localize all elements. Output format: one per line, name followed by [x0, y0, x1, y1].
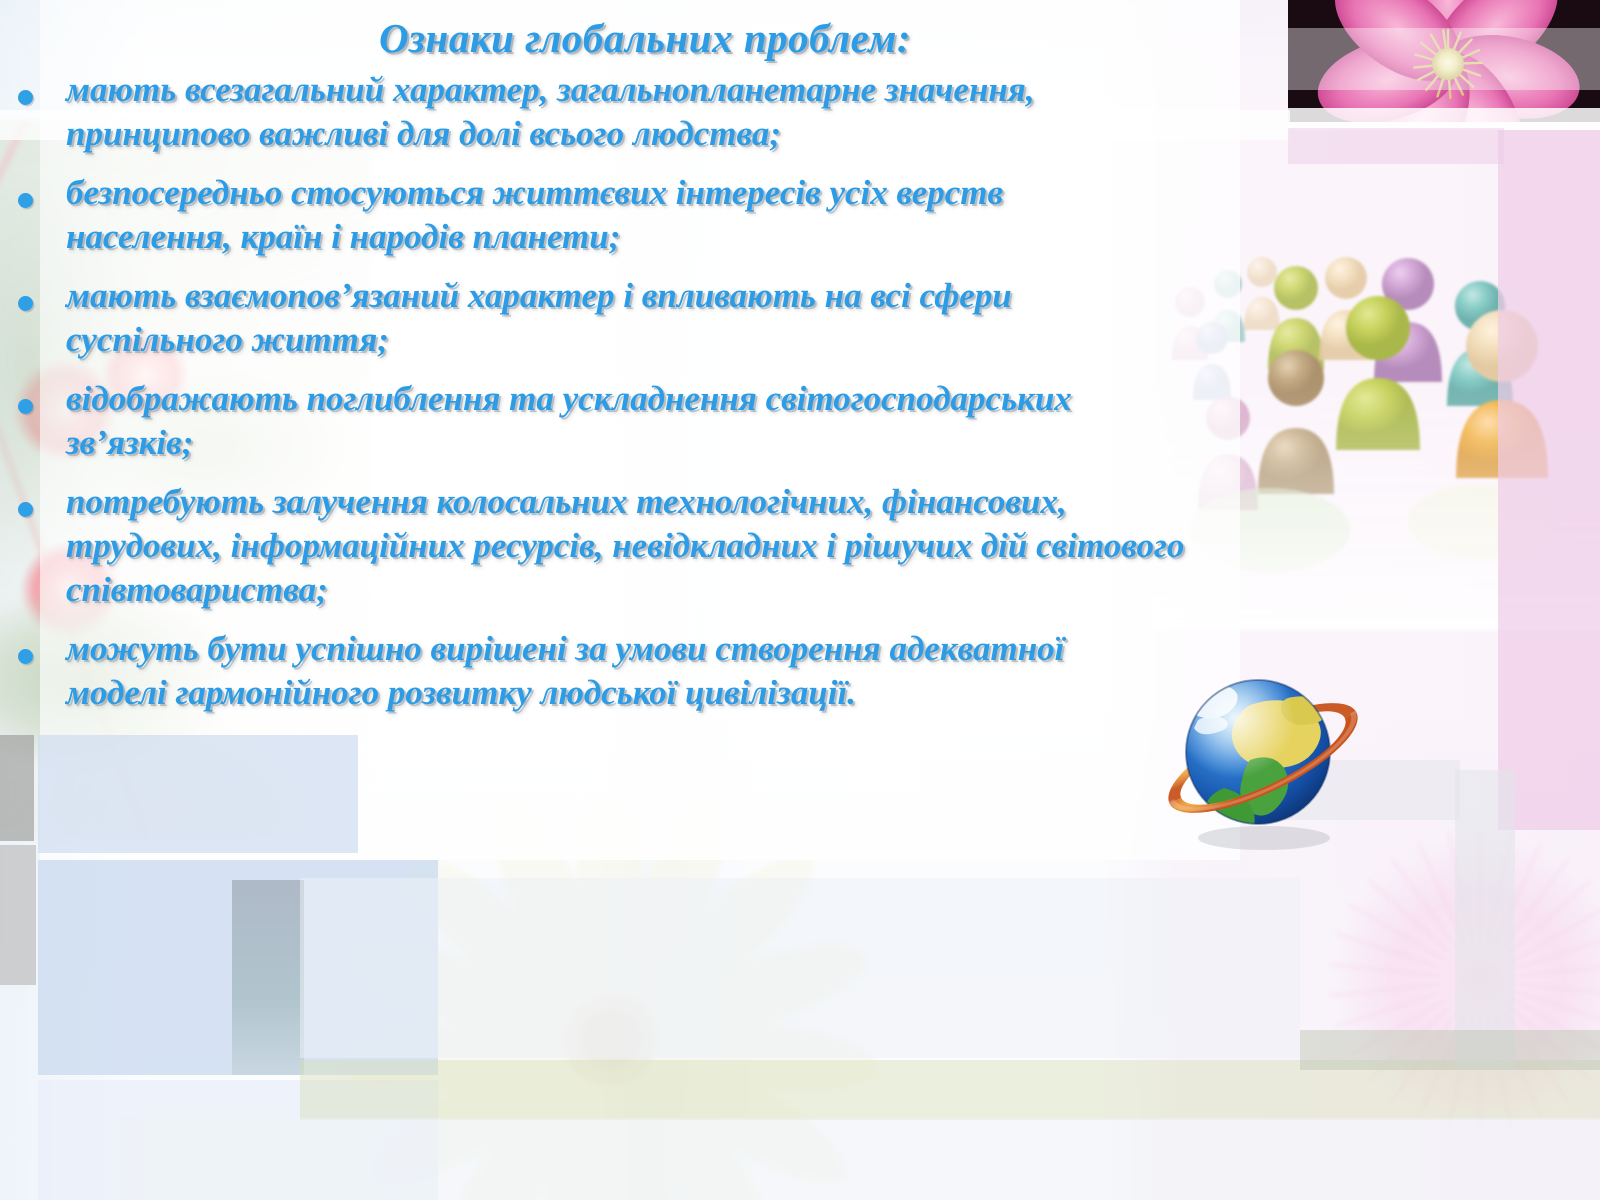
- list-item-label: безпосередньо стосуються життєвих інтере…: [66, 171, 1166, 260]
- list-item-label: мають взаємопов’язаний характер і вплива…: [66, 274, 1151, 363]
- slide-content: Ознаки глобальних проблем: мають всезага…: [0, 0, 1600, 1200]
- presentation-slide: Ознаки глобальних проблем: мають всезага…: [0, 0, 1600, 1200]
- list-item: відображають поглиблення та ускладнення …: [0, 377, 1270, 466]
- bullet-marker-icon: [18, 193, 33, 208]
- bullet-marker-icon: [18, 502, 33, 517]
- list-item: безпосередньо стосуються життєвих інтере…: [0, 171, 1270, 260]
- list-item: потребують залучення колосальних техноло…: [0, 480, 1270, 613]
- bullet-marker-icon: [18, 296, 33, 311]
- list-item: можуть бути успішно вирішені за умови ст…: [0, 627, 1270, 716]
- list-item-label: потребують залучення колосальних техноло…: [66, 480, 1201, 613]
- bullet-marker-icon: [18, 649, 33, 664]
- list-item: мають всезагальний характер, загальнопла…: [0, 68, 1270, 157]
- list-item-label: мають всезагальний характер, загальнопла…: [66, 68, 1201, 157]
- bullet-marker-icon: [18, 90, 33, 105]
- list-item: мають взаємопов’язаний характер і вплива…: [0, 274, 1270, 363]
- bullet-list: мають всезагальний характер, загальнопла…: [0, 68, 1270, 730]
- bullet-marker-icon: [18, 399, 33, 414]
- list-item-label: можуть бути успішно вирішені за умови ст…: [66, 627, 1116, 716]
- list-item-label: відображають поглиблення та ускладнення …: [66, 377, 1116, 466]
- page-title: Ознаки глобальних проблем:: [0, 14, 1290, 62]
